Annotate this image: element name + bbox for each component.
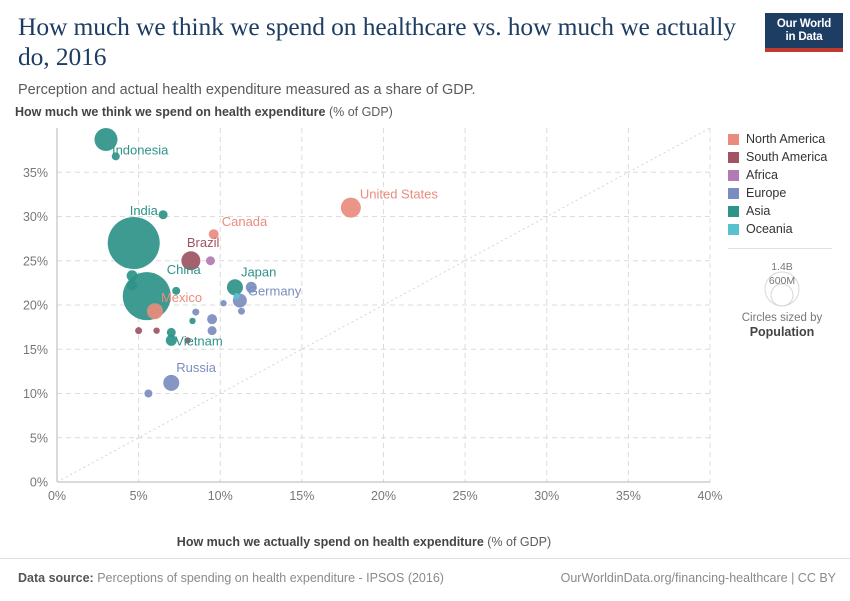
data-point-label-china: China (167, 262, 202, 277)
legend-item-africa[interactable]: Africa (728, 166, 848, 184)
x-tick-label: 30% (534, 489, 559, 503)
data-point-japan[interactable] (227, 279, 243, 295)
y-tick-label: 10% (23, 387, 48, 401)
data-point-label-canada: Canada (222, 214, 268, 229)
data-source: Data source: Perceptions of spending on … (18, 571, 444, 585)
data-point[interactable] (127, 281, 137, 291)
data-point-label-indonesia: Indonesia (112, 143, 169, 158)
legend-item-label: South America (746, 150, 827, 164)
page-subtitle: Perception and actual health expenditure… (18, 81, 748, 100)
data-point[interactable] (233, 293, 239, 299)
chart-page: How much we think we spend on healthcare… (0, 0, 850, 600)
data-point[interactable] (207, 314, 217, 324)
legend-item-label: Europe (746, 186, 786, 200)
data-point-russia[interactable] (163, 375, 179, 391)
legend-item-europe[interactable]: Europe (728, 184, 848, 202)
legend-item-oceania[interactable]: Oceania (728, 220, 848, 238)
plot-area: 0%5%10%15%20%25%30%35%0%5%10%15%20%25%30… (0, 120, 728, 520)
legend-item-label: North America (746, 132, 825, 146)
legend-item-label: Africa (746, 168, 778, 182)
x-axis-caption: How much we actually spend on health exp… (0, 535, 728, 549)
x-tick-label: 20% (371, 489, 396, 503)
y-tick-label: 0% (30, 476, 48, 490)
data-point[interactable] (135, 327, 142, 334)
data-point-label-russia: Russia (176, 360, 217, 375)
x-axis-caption-bold: How much we actually spend on health exp… (177, 535, 484, 549)
logo-line-1: Our World (765, 18, 843, 31)
y-tick-label: 35% (23, 166, 48, 180)
x-axis-caption-unit: (% of GDP) (484, 535, 551, 549)
legend-swatch-icon (728, 170, 739, 181)
legend-item-north-america[interactable]: North America (728, 130, 848, 148)
y-tick-label: 30% (23, 210, 48, 224)
data-point[interactable] (153, 327, 159, 333)
y-tick-label: 20% (23, 299, 48, 313)
data-source-label: Data source: (18, 571, 94, 585)
y-tick-label: 25% (23, 254, 48, 268)
x-tick-label: 35% (616, 489, 641, 503)
data-point[interactable] (189, 318, 195, 324)
data-point-label-japan: Japan (241, 264, 276, 279)
data-point-label-india: India (130, 203, 159, 218)
legend-divider (728, 248, 832, 249)
data-point-label-brazil: Brazil (187, 235, 220, 250)
owid-logo[interactable]: Our World in Data (765, 13, 843, 52)
data-source-value: Perceptions of spending on health expend… (94, 571, 444, 585)
header: How much we think we spend on healthcare… (18, 12, 748, 100)
legend-item-asia[interactable]: Asia (728, 202, 848, 220)
data-point-label-vietnam: Vietnam (175, 333, 222, 348)
y-axis-caption-bold: How much we think we spend on health exp… (15, 105, 325, 119)
x-tick-label: 0% (48, 489, 66, 503)
y-tick-label: 5% (30, 431, 48, 445)
data-point-mexico[interactable] (147, 303, 163, 319)
data-point[interactable] (220, 300, 226, 306)
size-legend-circles: 1.4B 600M (728, 255, 836, 307)
legend-swatch-icon (728, 134, 739, 145)
data-point[interactable] (192, 309, 199, 316)
data-point[interactable] (144, 390, 152, 398)
x-tick-label: 25% (453, 489, 478, 503)
x-tick-label: 5% (130, 489, 148, 503)
data-point-label-germany: Germany (248, 284, 302, 299)
y-axis-caption-unit: (% of GDP) (325, 105, 392, 119)
data-point[interactable] (127, 270, 138, 281)
size-legend-caption: Circles sized by Population (728, 311, 836, 339)
logo-line-2: in Data (765, 31, 843, 44)
size-legend-caption-line2: Population (728, 325, 836, 339)
data-point[interactable] (238, 308, 245, 315)
page-title: How much we think we spend on healthcare… (18, 12, 748, 72)
legend-item-south-america[interactable]: South America (728, 148, 848, 166)
svg-text:1.4B: 1.4B (771, 261, 793, 273)
size-legend: 1.4B 600M Circles sized by Population (728, 255, 836, 339)
data-point[interactable] (159, 210, 168, 219)
y-tick-label: 15% (23, 343, 48, 357)
data-point-united-states[interactable] (341, 198, 361, 218)
size-legend-caption-line1: Circles sized by (742, 312, 823, 324)
attribution-link[interactable]: OurWorldinData.org/financing-healthcare … (561, 571, 836, 585)
footer: Data source: Perceptions of spending on … (0, 558, 850, 601)
legend-item-label: Oceania (746, 222, 793, 236)
scatter-plot[interactable]: 0%5%10%15%20%25%30%35%0%5%10%15%20%25%30… (0, 120, 728, 520)
x-tick-label: 40% (697, 489, 722, 503)
legend-item-label: Asia (746, 204, 770, 218)
data-point-label-united-states: United States (360, 187, 439, 202)
y-axis-caption: How much we think we spend on health exp… (15, 105, 393, 119)
x-tick-label: 15% (289, 489, 314, 503)
data-point-label-mexico: Mexico (161, 290, 202, 305)
data-point-india[interactable] (108, 217, 160, 269)
legend-swatch-icon (728, 224, 739, 235)
data-point[interactable] (206, 256, 215, 265)
legend-swatch-icon (728, 188, 739, 199)
svg-text:600M: 600M (769, 275, 795, 287)
legend-color-list: North AmericaSouth AmericaAfricaEuropeAs… (728, 130, 848, 238)
x-tick-label: 10% (208, 489, 233, 503)
legend: North AmericaSouth AmericaAfricaEuropeAs… (728, 130, 848, 339)
legend-swatch-icon (728, 206, 739, 217)
legend-swatch-icon (728, 152, 739, 163)
